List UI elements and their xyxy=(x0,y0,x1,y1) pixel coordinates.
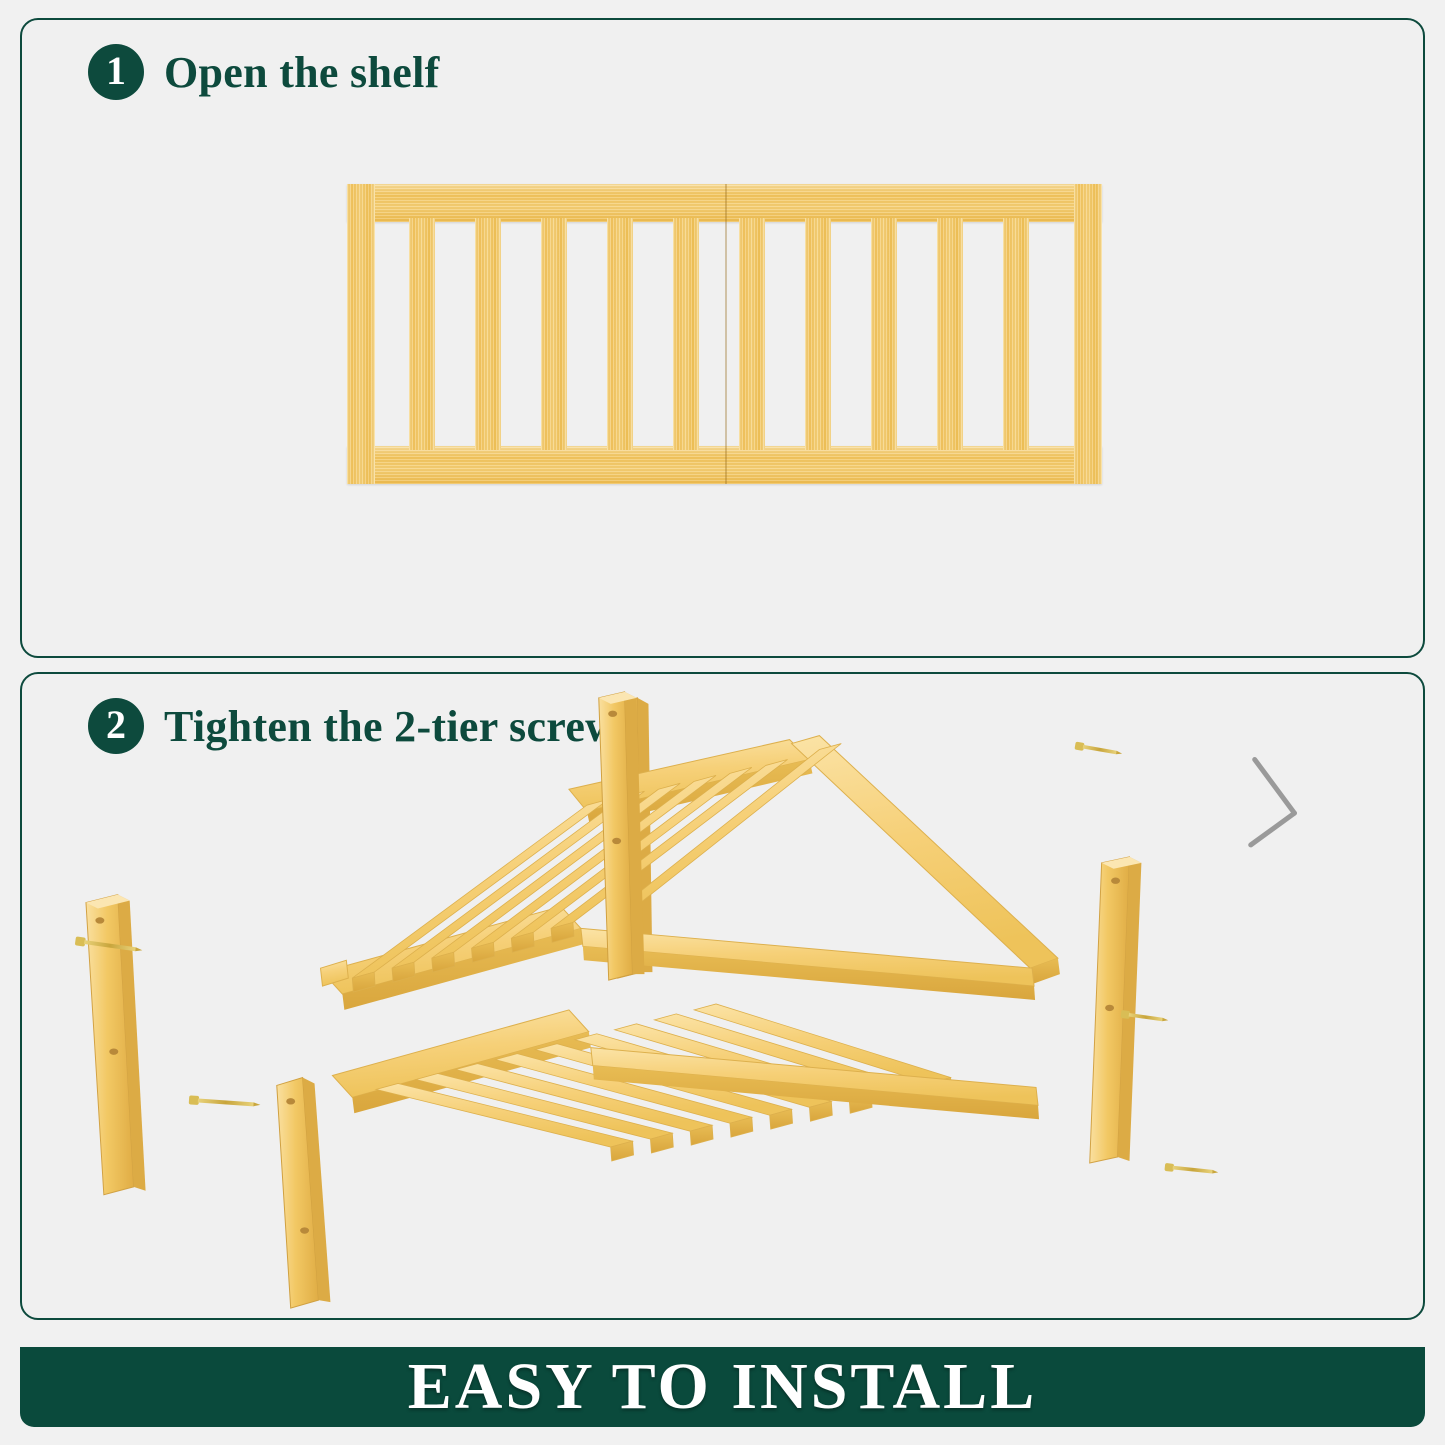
panel-slat xyxy=(475,218,501,450)
panel-slat xyxy=(673,218,699,450)
step-1-card: 1 Open the shelf xyxy=(20,18,1425,658)
page-root: 1 Open the shelf 2 Tighten the 2-tier sc… xyxy=(0,0,1445,1445)
step-2-card: 2 Tighten the 2-tier screws xyxy=(20,672,1425,1320)
panel-left-stile xyxy=(347,184,375,484)
easy-to-install-banner: EASY TO INSTALL xyxy=(20,1347,1425,1427)
panel-slat xyxy=(739,218,765,450)
step-1-number-badge: 1 xyxy=(88,44,144,100)
panel-slat xyxy=(1003,218,1029,450)
panel-slat xyxy=(805,218,831,450)
panel-slat xyxy=(607,218,633,450)
leg-detached-front xyxy=(211,1238,261,1318)
screw xyxy=(1074,742,1122,758)
top-tier-shelf xyxy=(319,736,1060,1010)
screw xyxy=(1164,1163,1218,1177)
panel-slat xyxy=(541,218,567,450)
panel-slat xyxy=(409,218,435,450)
leg-attached-front-left xyxy=(277,1077,331,1308)
panel-right-stile xyxy=(1074,184,1102,484)
panel-slat xyxy=(871,218,897,450)
leg-front-attached xyxy=(211,877,241,1147)
allen-key-icon xyxy=(1251,759,1295,844)
step-1-header: 1 Open the shelf xyxy=(88,44,440,100)
exploded-shelf-assembly-illustration xyxy=(22,674,1423,1318)
leg-detached-left xyxy=(86,895,146,1195)
leg-detached-right xyxy=(1090,857,1142,1163)
panel-center-seam xyxy=(725,184,727,484)
flat-shelf-panel-illustration xyxy=(347,184,1102,484)
banner-text: EASY TO INSTALL xyxy=(408,1354,1037,1420)
assembly-svg xyxy=(22,674,1423,1318)
step-1-title: Open the shelf xyxy=(164,47,440,98)
panel-slat xyxy=(937,218,963,450)
